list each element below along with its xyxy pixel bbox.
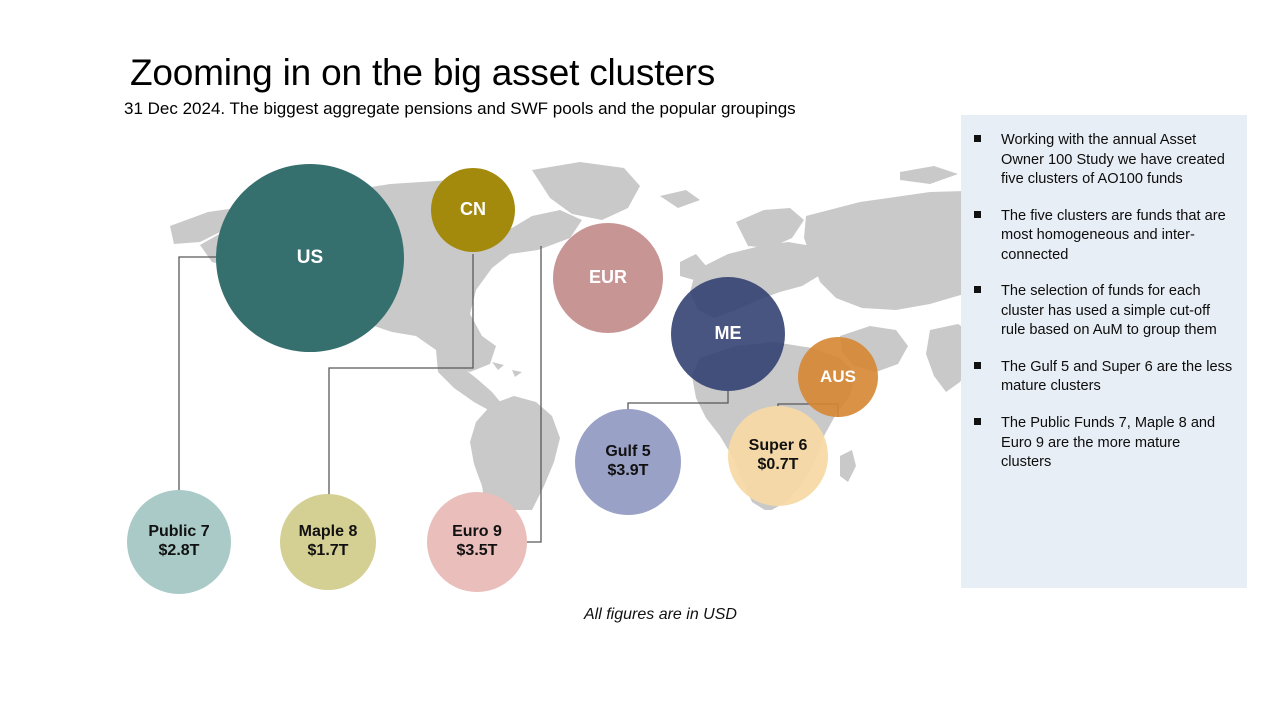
bubble-super-6-name: Super 6 <box>749 437 808 456</box>
square-bullet-icon <box>974 135 981 142</box>
bubble-public-7-name: Public 7 <box>148 523 209 542</box>
square-bullet-icon <box>974 211 981 218</box>
bubble-euro-9-value: $3.5T <box>457 542 498 561</box>
panel-bullet-5: The Public Funds 7, Maple 8 and Euro 9 a… <box>961 414 1247 473</box>
bubble-cn-label: CN <box>460 199 486 220</box>
panel-bullet-2: The five clusters are funds that are mos… <box>961 207 1247 266</box>
square-bullet-icon <box>974 418 981 425</box>
bubble-us[interactable]: US <box>216 164 404 352</box>
panel-bullet-3-text: The selection of funds for each cluster … <box>1001 283 1217 338</box>
bubble-gulf-5-name: Gulf 5 <box>605 443 650 462</box>
page-subtitle: 31 Dec 2024. The biggest aggregate pensi… <box>124 99 796 119</box>
bubble-me-label: ME <box>715 323 742 344</box>
square-bullet-icon <box>974 362 981 369</box>
bubble-us-label: US <box>297 247 323 269</box>
panel-bullet-1: Working with the annual Asset Owner 100 … <box>961 115 1247 190</box>
bubble-me[interactable]: ME <box>671 277 785 391</box>
page-title: Zooming in on the big asset clusters <box>130 52 715 94</box>
panel-bullet-2-text: The five clusters are funds that are mos… <box>1001 208 1226 263</box>
bubble-maple-8-name: Maple 8 <box>299 523 358 542</box>
square-bullet-icon <box>974 286 981 293</box>
panel-bullet-5-text: The Public Funds 7, Maple 8 and Euro 9 a… <box>1001 415 1215 470</box>
panel-bullet-4: The Gulf 5 and Super 6 are the less matu… <box>961 358 1247 397</box>
bubble-eur[interactable]: EUR <box>553 223 663 333</box>
bubble-gulf-5-value: $3.9T <box>608 462 649 481</box>
bubble-maple-8[interactable]: Maple 8 $1.7T <box>280 494 376 590</box>
bubble-euro-9[interactable]: Euro 9 $3.5T <box>427 492 527 592</box>
bubble-public-7[interactable]: Public 7 $2.8T <box>127 490 231 594</box>
bubble-public-7-value: $2.8T <box>159 542 200 561</box>
panel-bullet-3: The selection of funds for each cluster … <box>961 282 1247 341</box>
bubble-eur-label: EUR <box>589 267 627 288</box>
bubble-gulf-5[interactable]: Gulf 5 $3.9T <box>575 409 681 515</box>
bubble-maple-8-value: $1.7T <box>308 542 349 561</box>
panel-bullet-4-text: The Gulf 5 and Super 6 are the less matu… <box>1001 359 1232 395</box>
bubble-super-6[interactable]: Super 6 $0.7T <box>728 406 828 506</box>
bubble-aus[interactable]: AUS <box>798 337 878 417</box>
slide-canvas: US CN EUR ME AUS Public 7 $2.8T Maple 8 … <box>0 0 1280 720</box>
bubble-cn[interactable]: CN <box>431 168 515 252</box>
bubble-euro-9-name: Euro 9 <box>452 523 502 542</box>
figures-note: All figures are in USD <box>584 606 737 624</box>
panel-bullet-1-text: Working with the annual Asset Owner 100 … <box>1001 132 1225 187</box>
bubble-aus-label: AUS <box>820 367 856 387</box>
commentary-panel: Working with the annual Asset Owner 100 … <box>961 115 1247 588</box>
bubble-super-6-value: $0.7T <box>758 456 799 475</box>
